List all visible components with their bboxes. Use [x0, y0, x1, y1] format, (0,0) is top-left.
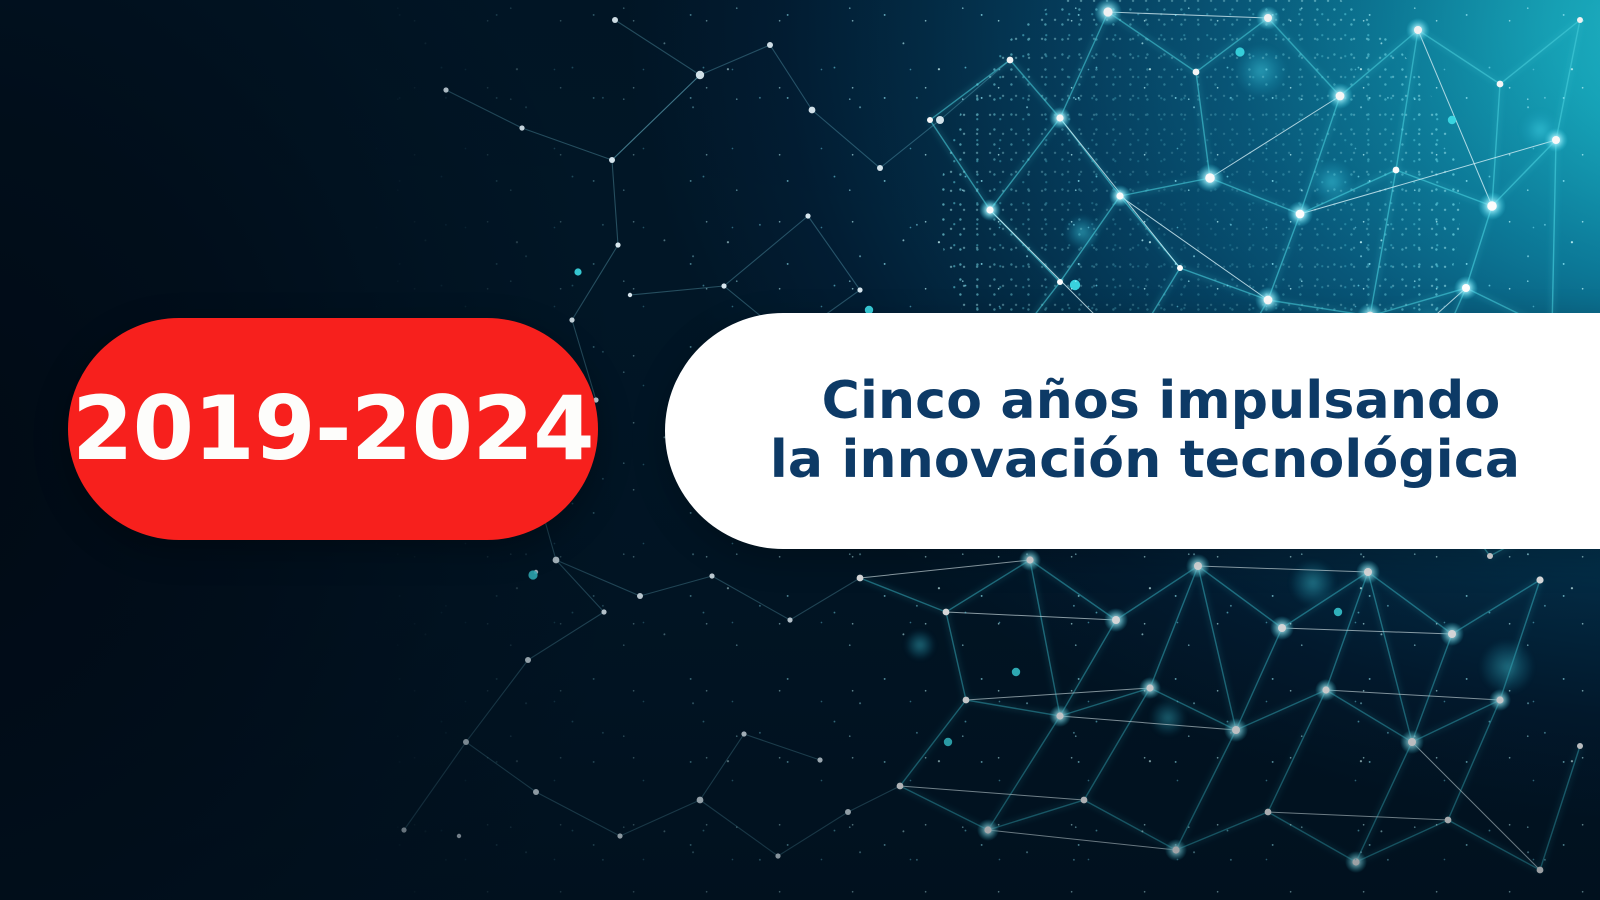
- headline-line-1: Cinco años impulsando: [822, 372, 1501, 431]
- headline-line-2: la innovación tecnológica: [770, 431, 1520, 490]
- anniversary-banner: 2019-2024 Cinco años impulsando la innov…: [0, 0, 1600, 900]
- year-range-label: 2019-2024: [72, 385, 594, 473]
- year-range-badge: 2019-2024: [68, 318, 598, 540]
- headline-panel: Cinco años impulsando la innovación tecn…: [665, 313, 1600, 549]
